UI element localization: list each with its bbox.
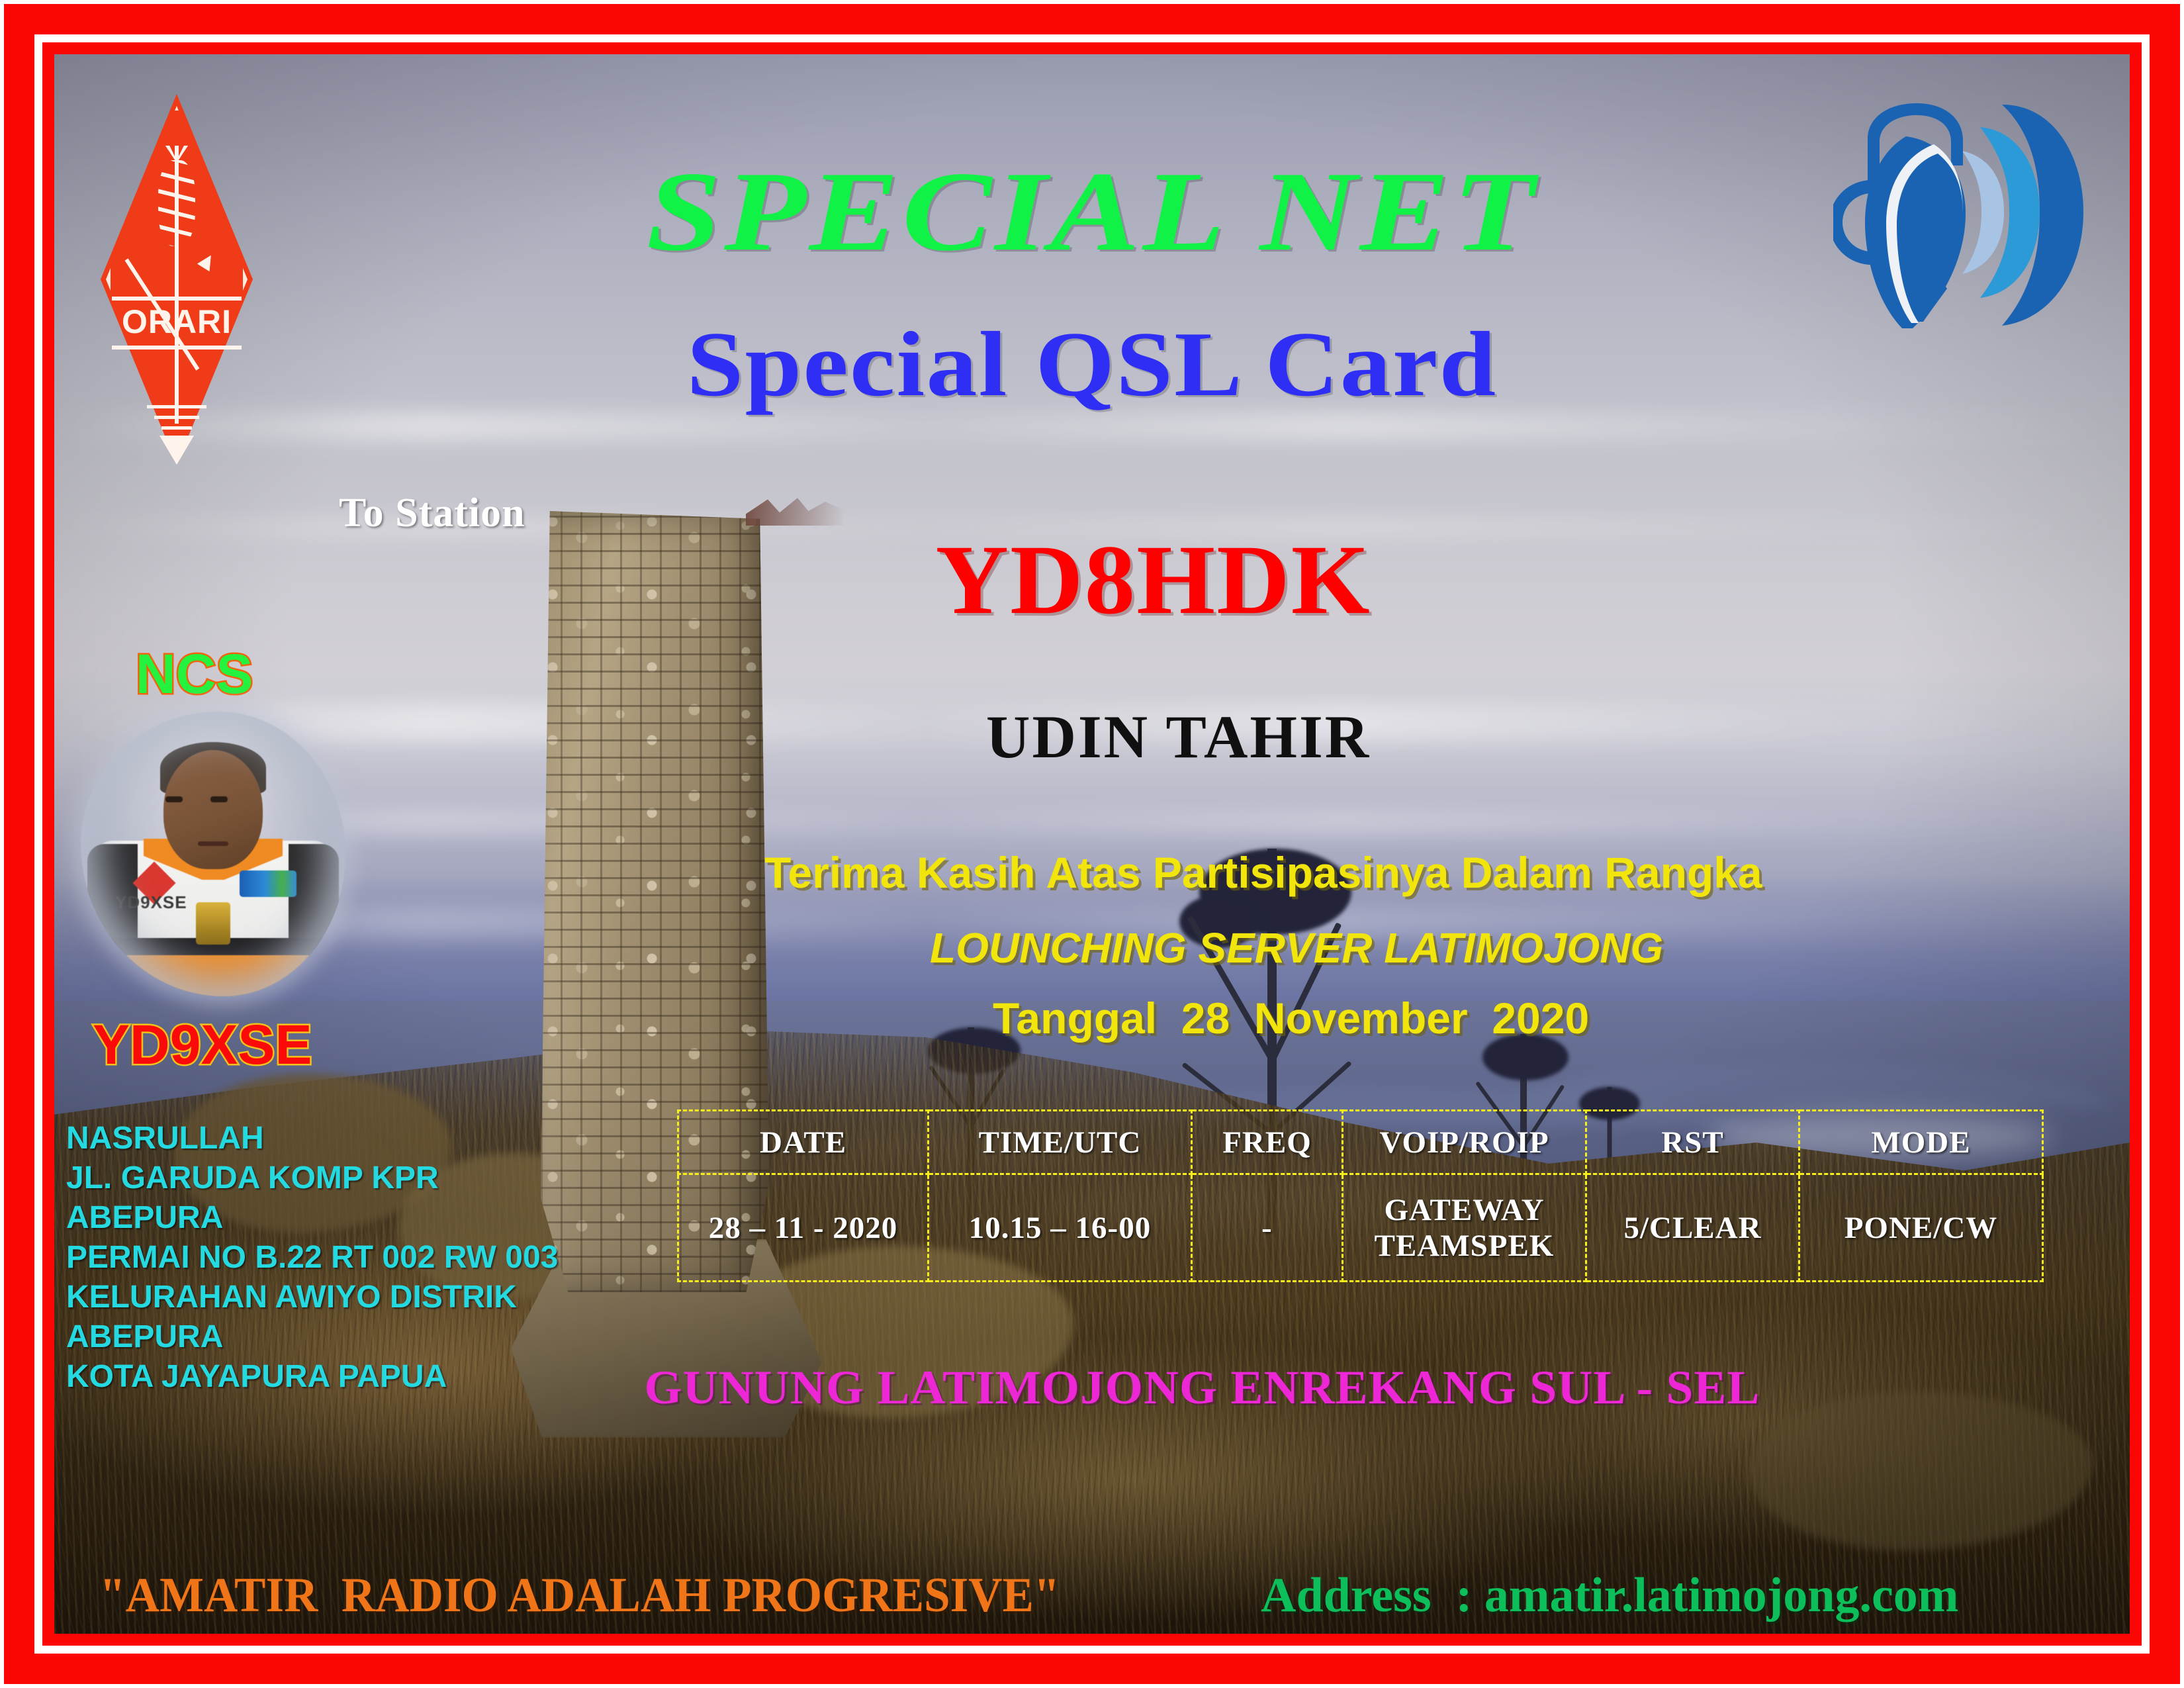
table-header-row: DATE TIME/UTC FREQ VOIP/ROIP RST MODE	[678, 1111, 2043, 1174]
location-line: GUNUNG LATIMOJONG ENREKANG SUL - SEL	[644, 1360, 1760, 1415]
cell-rst: 5/CLEAR	[1586, 1174, 1799, 1282]
column-header-rst: RST	[1586, 1111, 1799, 1174]
table-row: 28 – 11 - 2020 10.15 – 16-00 - GATEWAY T…	[678, 1174, 2043, 1282]
to-station-label: To Station	[339, 490, 525, 537]
cell-voip-line2: TEAMSPEK	[1347, 1228, 1581, 1264]
qso-log-table: DATE TIME/UTC FREQ VOIP/ROIP RST MODE 28…	[677, 1109, 2044, 1282]
address-line: KOTA JAYAPURA PAPUA	[66, 1357, 558, 1397]
cloud-band	[54, 809, 2130, 834]
address-line: KELURAHAN AWIYO DISTRIK	[66, 1278, 558, 1317]
station-address: NASRULLAH JL. GARUDA KOMP KPR ABEPURA PE…	[66, 1119, 558, 1397]
orari-ground-bar	[161, 426, 192, 430]
cell-mode: PONE/CW	[1799, 1174, 2043, 1282]
slogan-text: "AMATIR RADIO ADALAH PROGRESIVE"	[99, 1568, 1060, 1624]
subtitle: Special QSL Card	[0, 311, 2184, 418]
address-line: PERMAI NO B.22 RT 002 RW 003	[66, 1238, 558, 1278]
thanks-line: Terima Kasih Atas Partisipasinya Dalam R…	[764, 847, 1762, 898]
cell-date: 28 – 11 - 2020	[678, 1174, 929, 1282]
cell-voip: GATEWAY TEAMSPEK	[1343, 1174, 1586, 1282]
callsign-heading: YD8HDK	[936, 523, 1371, 637]
web-address: Address : amatir.latimojong.com	[1261, 1568, 1958, 1624]
address-line: ABEPURA	[66, 1317, 558, 1357]
ncs-label: NCS	[136, 642, 253, 706]
event-name: LOUNCHING SERVER LATIMOJONG	[930, 923, 1663, 972]
operator-photo: YD9XSE	[81, 712, 345, 996]
column-header-voip: VOIP/ROIP	[1343, 1111, 1586, 1174]
address-line: JL. GARUDA KOMP KPR	[66, 1158, 558, 1198]
qsl-card: ORARI SPECIAL NET Special QSL Card To St…	[0, 0, 2184, 1688]
operator-name: UDIN TAHIR	[986, 702, 1371, 772]
column-header-mode: MODE	[1799, 1111, 2043, 1174]
ncs-callsign: YD9XSE	[93, 1013, 312, 1077]
event-date: Tanggal 28 November 2020	[993, 993, 1589, 1043]
page-title: SPECIAL NET	[0, 147, 2184, 277]
orari-bottom-triangle	[159, 436, 194, 465]
column-header-time: TIME/UTC	[929, 1111, 1192, 1174]
address-line: ABEPURA	[66, 1198, 558, 1238]
cell-freq: -	[1192, 1174, 1343, 1282]
cell-time: 10.15 – 16-00	[929, 1174, 1192, 1282]
address-line: NASRULLAH	[66, 1119, 558, 1158]
column-header-date: DATE	[678, 1111, 929, 1174]
cell-voip-line1: GATEWAY	[1347, 1192, 1581, 1228]
column-header-freq: FREQ	[1192, 1111, 1343, 1174]
